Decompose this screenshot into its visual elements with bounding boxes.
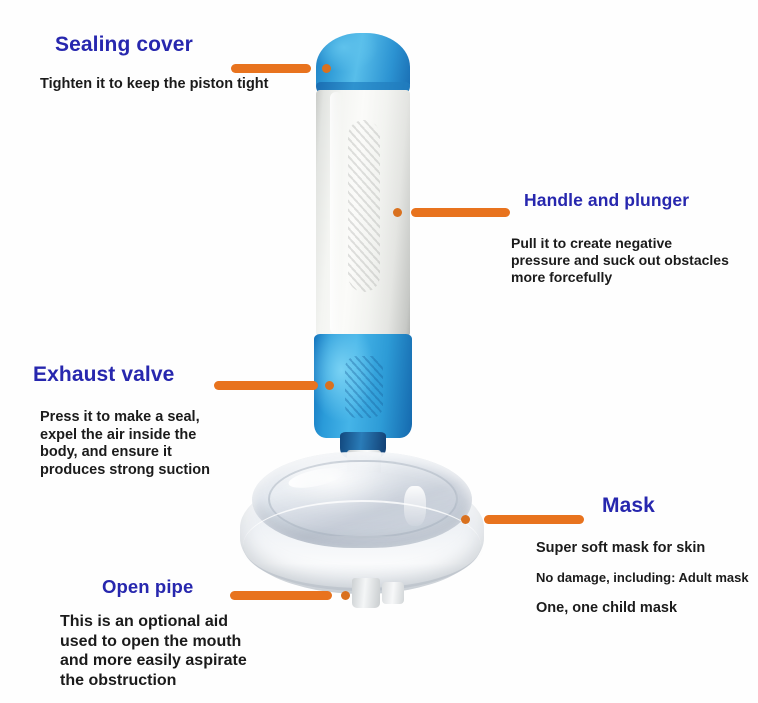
mask-highlight-right xyxy=(404,486,426,526)
exhaust-valve-title: Exhaust valve xyxy=(33,363,174,387)
sealing-cover-description-text: Tighten it to keep the piston tight xyxy=(40,76,269,94)
handle-plunger-anchor-dot xyxy=(393,208,402,217)
handle-plunger-description-text: Pull it to create negative pressure and … xyxy=(511,235,729,286)
open-pipe-title: Open pipe xyxy=(102,576,193,598)
exhaust-valve-title-text: Exhaust valve xyxy=(33,363,174,387)
mask-dome-shape xyxy=(252,452,472,548)
mask-anchor-dot xyxy=(461,515,470,524)
mask-bottom-port-secondary xyxy=(382,582,404,604)
handle-plunger-title: Handle and plunger xyxy=(524,190,689,211)
handle-plunger-title-text: Handle and plunger xyxy=(524,190,689,211)
handle-barrel-highlight xyxy=(330,92,342,334)
mask-description-line-2: No damage, including: Adult mask xyxy=(536,570,749,586)
exhaust-valve-description: Press it to make a seal, expel the air i… xyxy=(40,409,210,480)
mask-bottom-port xyxy=(352,578,380,608)
exhaust-valve-leader-line xyxy=(214,381,318,390)
open-pipe-title-text: Open pipe xyxy=(102,576,193,598)
sealing-cover-description: Tighten it to keep the piston tight xyxy=(40,76,269,94)
mask-description-line-1-text: Super soft mask for skin xyxy=(536,540,705,558)
handle-plunger-description: Pull it to create negative pressure and … xyxy=(511,235,729,286)
mask-inner-ring xyxy=(268,460,458,538)
exhaust-valve-description-text: Press it to make a seal, expel the air i… xyxy=(40,409,210,480)
mask-skirt-shape xyxy=(240,472,484,594)
diagram-canvas: Sealing cover Tighten it to keep the pis… xyxy=(0,0,758,703)
mask-rim xyxy=(243,500,481,591)
mask-highlight-left xyxy=(287,464,345,491)
open-pipe-leader-line xyxy=(230,591,332,600)
valve-neck-shape xyxy=(340,432,386,458)
sealing-cover-leader-line xyxy=(231,64,311,73)
mask-description-line-3: One, one child mask xyxy=(536,600,677,618)
sealing-cover-title: Sealing cover xyxy=(55,33,193,57)
mask-description-line-3-text: One, one child mask xyxy=(536,600,677,618)
exhaust-valve-anchor-dot xyxy=(325,381,334,390)
mask-leader-line xyxy=(484,515,584,524)
handle-grip-texture xyxy=(348,120,380,292)
mask-ground-shadow xyxy=(238,520,486,582)
open-pipe-shape xyxy=(347,450,381,512)
sealing-cap-lip-shape xyxy=(316,82,410,94)
sealing-cap-shape xyxy=(316,33,410,91)
open-pipe-description-text: This is an optional aid used to open the… xyxy=(60,612,247,690)
mask-description-line-1: Super soft mask for skin xyxy=(536,540,705,558)
sealing-cover-anchor-dot xyxy=(322,64,331,73)
open-pipe-description: This is an optional aid used to open the… xyxy=(60,612,247,690)
mask-title: Mask xyxy=(602,494,655,518)
exhaust-valve-grip-texture xyxy=(345,356,383,418)
sealing-cover-title-text: Sealing cover xyxy=(55,33,193,57)
open-pipe-anchor-dot xyxy=(341,591,350,600)
mask-title-text: Mask xyxy=(602,494,655,518)
handle-plunger-leader-line xyxy=(411,208,510,217)
mask-description-line-2-text: No damage, including: Adult mask xyxy=(536,570,749,586)
